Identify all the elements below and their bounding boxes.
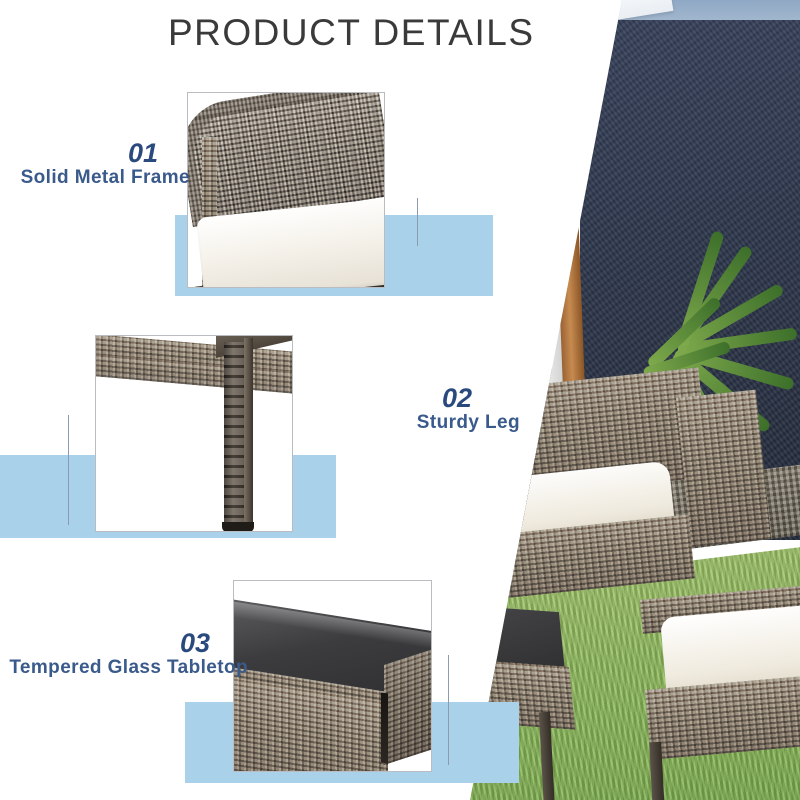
table-leg-foot — [222, 522, 254, 532]
product-details-infographic: PRODUCT DETAILS — [0, 0, 800, 800]
detail-photo-01-content — [188, 93, 384, 287]
detail-photo-02 — [95, 335, 293, 532]
detail-photo-01 — [187, 92, 385, 288]
table-corner-seam — [381, 692, 388, 763]
leader-line-01 — [417, 198, 418, 246]
callout-01-number: 01 — [10, 140, 158, 167]
detail-photo-03 — [233, 580, 432, 772]
glass-shadow — [390, 454, 543, 540]
leader-line-03 — [448, 655, 449, 765]
detail-photo-02-content — [96, 336, 292, 531]
table-leg-edge — [244, 338, 253, 528]
detail-photo-03-content — [234, 581, 431, 771]
callout-01: 01 Solid Metal Frame — [10, 140, 190, 189]
callout-02: 02 Sturdy Leg — [330, 385, 520, 434]
callout-02-label: Sturdy Leg — [330, 412, 520, 434]
sofa-armrest — [676, 390, 771, 548]
callout-02-number: 02 — [330, 385, 472, 412]
callout-03: 03 Tempered Glass Tabletop — [8, 630, 248, 679]
callout-03-label: Tempered Glass Tabletop — [8, 657, 248, 679]
leader-line-02 — [68, 415, 69, 525]
page-title: PRODUCT DETAILS — [168, 12, 535, 54]
table-side-weave — [384, 644, 432, 765]
callout-03-number: 03 — [8, 630, 210, 657]
callout-01-label: Solid Metal Frame — [10, 167, 190, 189]
